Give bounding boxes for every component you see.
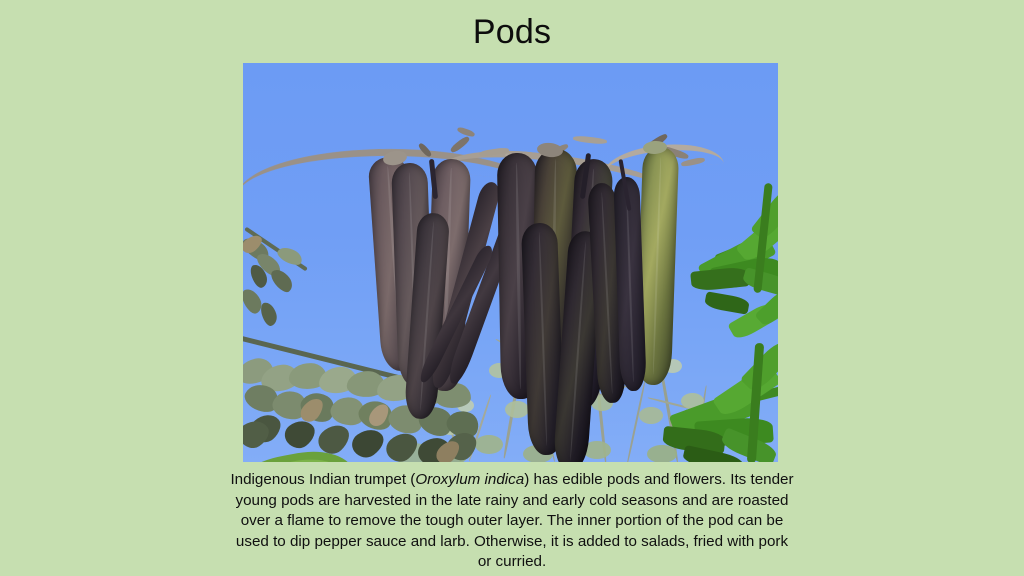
page-title: Pods — [0, 12, 1024, 52]
photo-caption: Indigenous Indian trumpet (Oroxylum indi… — [228, 470, 796, 573]
caption-species-italic: Oroxylum indica — [415, 471, 524, 488]
caption-part-1: Indigenous Indian trumpet ( — [230, 471, 415, 488]
pods-photograph — [243, 63, 778, 462]
caption-part-2: ) has edible pods and flowers. Its — [524, 471, 746, 488]
slide-canvas: Pods — [0, 0, 1024, 576]
